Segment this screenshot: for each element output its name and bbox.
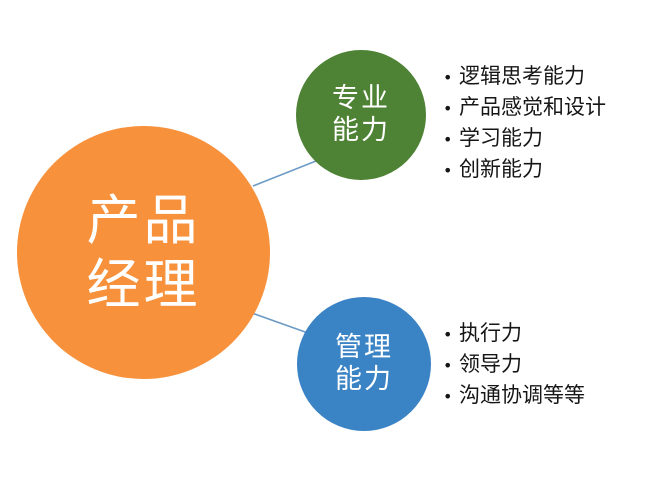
node-core-line-2: 经理 xyxy=(87,253,201,317)
list-item-label: 创新能力 xyxy=(459,153,543,183)
bullet-dot-icon: • xyxy=(443,132,459,148)
list-item: • 领导力 xyxy=(443,348,585,379)
node-management-line-1: 管理 xyxy=(335,332,393,364)
list-item: • 学习能力 xyxy=(443,122,606,153)
bullet-dot-icon: • xyxy=(443,70,459,86)
list-item-label: 领导力 xyxy=(459,348,522,378)
list-item: • 产品感觉和设计 xyxy=(443,91,606,122)
node-core-product-manager[interactable]: 产品 经理 xyxy=(17,126,270,379)
node-management-line-2: 能力 xyxy=(335,364,393,396)
bullet-dot-icon: • xyxy=(443,389,459,405)
list-item: • 沟通协调等等 xyxy=(443,379,585,410)
node-core-line-1: 产品 xyxy=(87,189,201,253)
list-item: • 执行力 xyxy=(443,317,585,348)
list-item: • 逻辑思考能力 xyxy=(443,60,606,91)
bullet-dot-icon: • xyxy=(443,163,459,179)
list-item-label: 逻辑思考能力 xyxy=(459,60,585,90)
list-item-label: 产品感觉和设计 xyxy=(459,91,606,121)
bullet-dot-icon: • xyxy=(443,327,459,343)
node-professional-line-1: 专业 xyxy=(332,83,390,115)
node-professional-line-2: 能力 xyxy=(332,115,390,147)
connector-core-to-professional xyxy=(253,159,321,186)
bullet-dot-icon: • xyxy=(443,101,459,117)
node-professional-ability[interactable]: 专业 能力 xyxy=(296,50,426,180)
list-item-label: 沟通协调等等 xyxy=(459,379,585,409)
bullet-list-professional: • 逻辑思考能力 • 产品感觉和设计 • 学习能力 • 创新能力 xyxy=(443,60,606,184)
list-item-label: 学习能力 xyxy=(459,122,543,152)
list-item-label: 执行力 xyxy=(459,317,522,347)
bullet-list-management: • 执行力 • 领导力 • 沟通协调等等 xyxy=(443,317,585,410)
list-item: • 创新能力 xyxy=(443,153,606,184)
bullet-dot-icon: • xyxy=(443,358,459,374)
node-management-ability[interactable]: 管理 能力 xyxy=(297,297,431,431)
mindmap-diagram: 产品 经理 专业 能力 管理 能力 • 逻辑思考能力 • 产品感觉和设计 • 学… xyxy=(0,0,660,483)
